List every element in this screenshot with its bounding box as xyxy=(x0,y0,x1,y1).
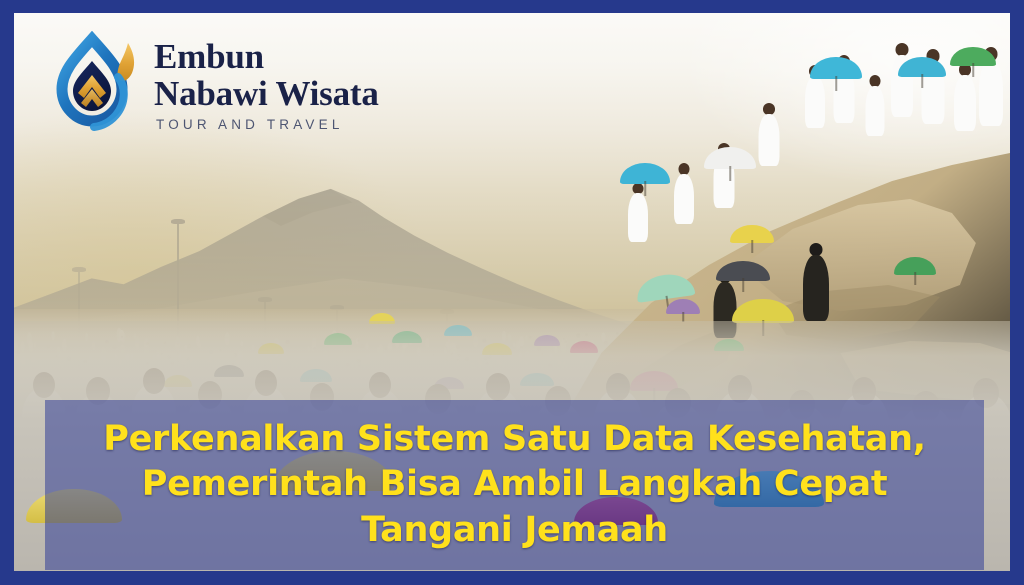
article-banner: Perkenalkan Sistem Satu Data Kesehatan, … xyxy=(0,0,1024,585)
pilgrim xyxy=(865,75,884,135)
umbrella-cyan xyxy=(620,163,670,184)
umbrella-green xyxy=(950,47,996,66)
pilgrim-dark-robe xyxy=(804,243,828,321)
brand-tagline: TOUR AND TRAVEL xyxy=(154,117,379,132)
headline-line-3: Tangani Jemaah xyxy=(59,508,970,554)
brand-name-line-1: Embun xyxy=(154,39,379,74)
headline-line-2: Pemerintah Bisa Ambil Langkah Cepat xyxy=(59,462,970,508)
pilgrim xyxy=(891,43,912,115)
water-drop-logo-icon xyxy=(56,31,142,135)
umbrella-purple xyxy=(666,299,700,314)
umbrella-cyan xyxy=(810,57,862,79)
page-title: Perkenalkan Sistem Satu Data Kesehatan, … xyxy=(45,417,984,554)
umbrella-yellow xyxy=(730,225,774,243)
headline-line-1: Perkenalkan Sistem Satu Data Kesehatan, xyxy=(59,417,970,463)
banner-photo: Perkenalkan Sistem Satu Data Kesehatan, … xyxy=(14,13,1010,571)
pilgrim xyxy=(674,163,693,223)
umbrella-cyan xyxy=(898,57,946,77)
umbrella-gray xyxy=(716,261,770,281)
brand-logo[interactable]: Embun Nabawi Wisata TOUR AND TRAVEL xyxy=(56,31,379,135)
pilgrim xyxy=(759,103,779,165)
headline-overlay-band: Perkenalkan Sistem Satu Data Kesehatan, … xyxy=(45,400,984,570)
brand-name-line-2: Nabawi Wisata xyxy=(154,76,379,111)
umbrella-green xyxy=(894,257,936,275)
brand-logo-text: Embun Nabawi Wisata TOUR AND TRAVEL xyxy=(154,35,379,132)
umbrella-white xyxy=(704,147,756,169)
umbrella-yellow xyxy=(732,299,794,323)
